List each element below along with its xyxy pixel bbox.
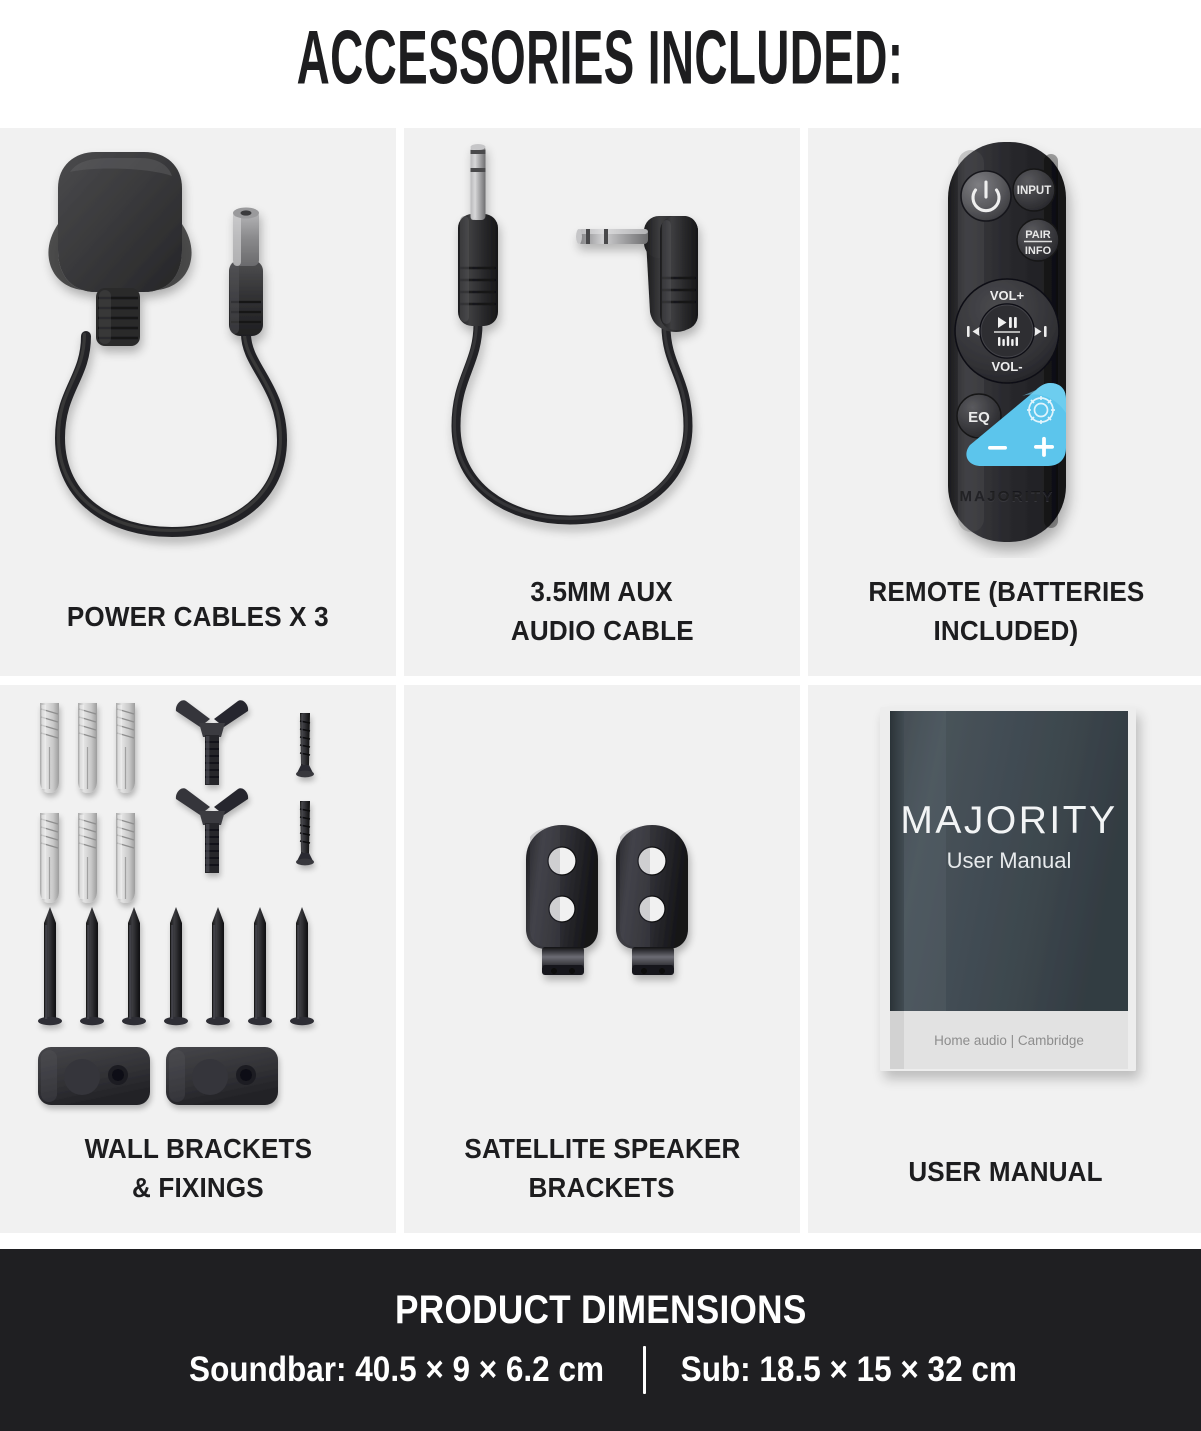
accessory-label-wall-brackets: WALL BRACKETS & FIXINGS [14,1129,382,1207]
accessory-label-aux-cable: 3.5MM AUX AUDIO CABLE [418,572,786,650]
remote-input-label: INPUT [1017,185,1052,197]
soundbar-dimensions: Soundbar: 40.5 × 9 × 6.2 cm [189,1350,604,1390]
product-dimensions-bar: PRODUCT DIMENSIONS Soundbar: 40.5 × 9 × … [0,1249,1201,1431]
accessory-cell-user-manual: MAJORITY User Manual Home audio | Cambri… [808,685,1201,1233]
dimensions-divider [643,1346,646,1394]
remote-vol-down-label: VOL- [991,359,1022,374]
long-nail [38,907,62,1025]
remote-control-illustration: INPUT PAIR INFO VOL+ VOL- [808,128,1201,558]
sub-dimensions: Sub: 18.5 × 15 × 32 cm [680,1350,1016,1390]
aux-cable-illustration [404,128,800,558]
remote-eq-label: EQ [968,409,990,426]
satellite-bracket-right [616,825,688,975]
wing-anchor [176,788,248,873]
svg-text:MAJORITY: MAJORITY [959,488,1054,505]
page-title-text: ACCESSORIES INCLUDED: [297,21,904,97]
wall-mount-plate [166,1047,278,1105]
long-nail [206,907,230,1025]
svg-text:INFO: INFO [1025,245,1052,257]
manual-subtitle-text: User Manual [947,848,1072,873]
short-screw [296,713,314,777]
wing-anchor [176,700,248,785]
wall-brackets-fixings-illustration [0,685,396,1115]
long-nail [248,907,272,1025]
long-nail [164,907,188,1025]
accessory-cell-satellite-brackets: SATELLITE SPEAKER BRACKETS [404,685,800,1233]
long-nail [122,907,146,1025]
accessory-label-satellite-brackets: SATELLITE SPEAKER BRACKETS [418,1129,786,1207]
short-screw [296,801,314,865]
remote-vol-up-label: VOL+ [990,288,1025,303]
power-cable-illustration [0,128,396,558]
satellite-bracket-illustration [404,685,800,1115]
wall-mount-plate [38,1047,150,1105]
accessory-cell-aux-cable: 3.5MM AUX AUDIO CABLE [404,128,800,676]
long-nail [80,907,104,1025]
page-title: ACCESSORIES INCLUDED: [0,0,1201,118]
manual-footer-text: Home audio | Cambridge [934,1033,1084,1048]
accessories-grid: POWER CABLES X 3 [0,128,1201,1240]
satellite-bracket-left [526,825,598,975]
accessory-label-user-manual: USER MANUAL [822,1152,1190,1191]
accessory-label-power-cables: POWER CABLES X 3 [14,597,382,636]
accessory-cell-remote: INPUT PAIR INFO VOL+ VOL- [808,128,1201,676]
product-dimensions-title: PRODUCT DIMENSIONS [367,1287,835,1333]
product-dimensions-values: Soundbar: 40.5 × 9 × 6.2 cm Sub: 18.5 × … [166,1346,1036,1394]
long-nail [290,907,314,1025]
accessory-cell-wall-brackets: WALL BRACKETS & FIXINGS [0,685,396,1233]
svg-text:PAIR: PAIR [1025,229,1051,241]
user-manual-illustration: MAJORITY User Manual Home audio | Cambri… [808,685,1201,1115]
accessory-label-remote: REMOTE (BATTERIES INCLUDED) [822,572,1190,650]
remote-bass-minus-icon [988,446,1007,450]
accessory-cell-power-cables: POWER CABLES X 3 [0,128,396,676]
